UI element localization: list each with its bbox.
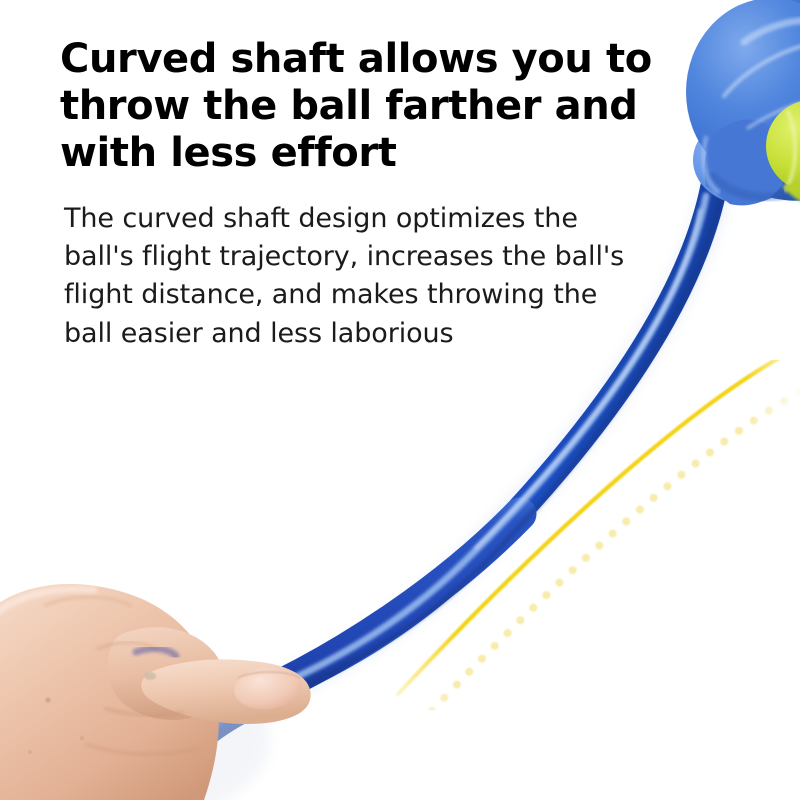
headline: Curved shaft allows you to throw the bal… <box>60 36 660 178</box>
marketing-copy-block: Curved shaft allows you to throw the bal… <box>60 36 660 353</box>
product-marketing-image: Curved shaft allows you to throw the bal… <box>0 0 800 800</box>
body-copy: The curved shaft design optimizes the ba… <box>64 200 660 353</box>
